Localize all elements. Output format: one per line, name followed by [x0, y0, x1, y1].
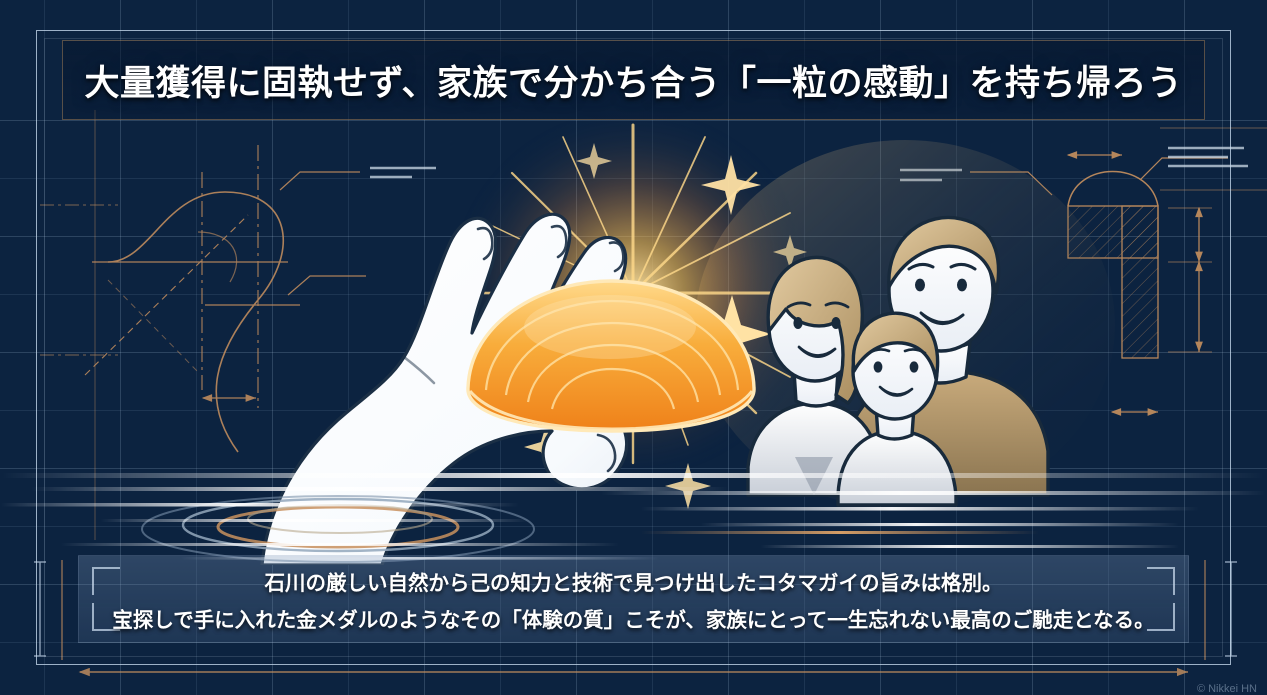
caption-text: 石川の厳しい自然から己の知力と技術で見つけ出したコタマガイの旨みは格別。 宝探し… [78, 555, 1189, 643]
caption-line-2: 宝探しで手に入れた金メダルのようなその「体験の質」こそが、家族にとって一生忘れな… [112, 603, 1154, 633]
watermark: © Nikkei HN [1197, 683, 1257, 695]
caption-panel: 石川の厳しい自然から己の知力と技術で見つけ出したコタマガイの旨みは格別。 宝探し… [78, 555, 1189, 643]
water-surface-with-ripples [0, 473, 1267, 562]
slide-canvas: 大量獲得に固執せず、家族で分かち合う「一粒の感動」を持ち帰ろう [0, 0, 1267, 695]
main-illustration [0, 95, 1267, 565]
caption-line-1: 石川の厳しい自然から己の知力と技術で見つけ出したコタマガイの旨みは格別。 [265, 566, 1003, 596]
